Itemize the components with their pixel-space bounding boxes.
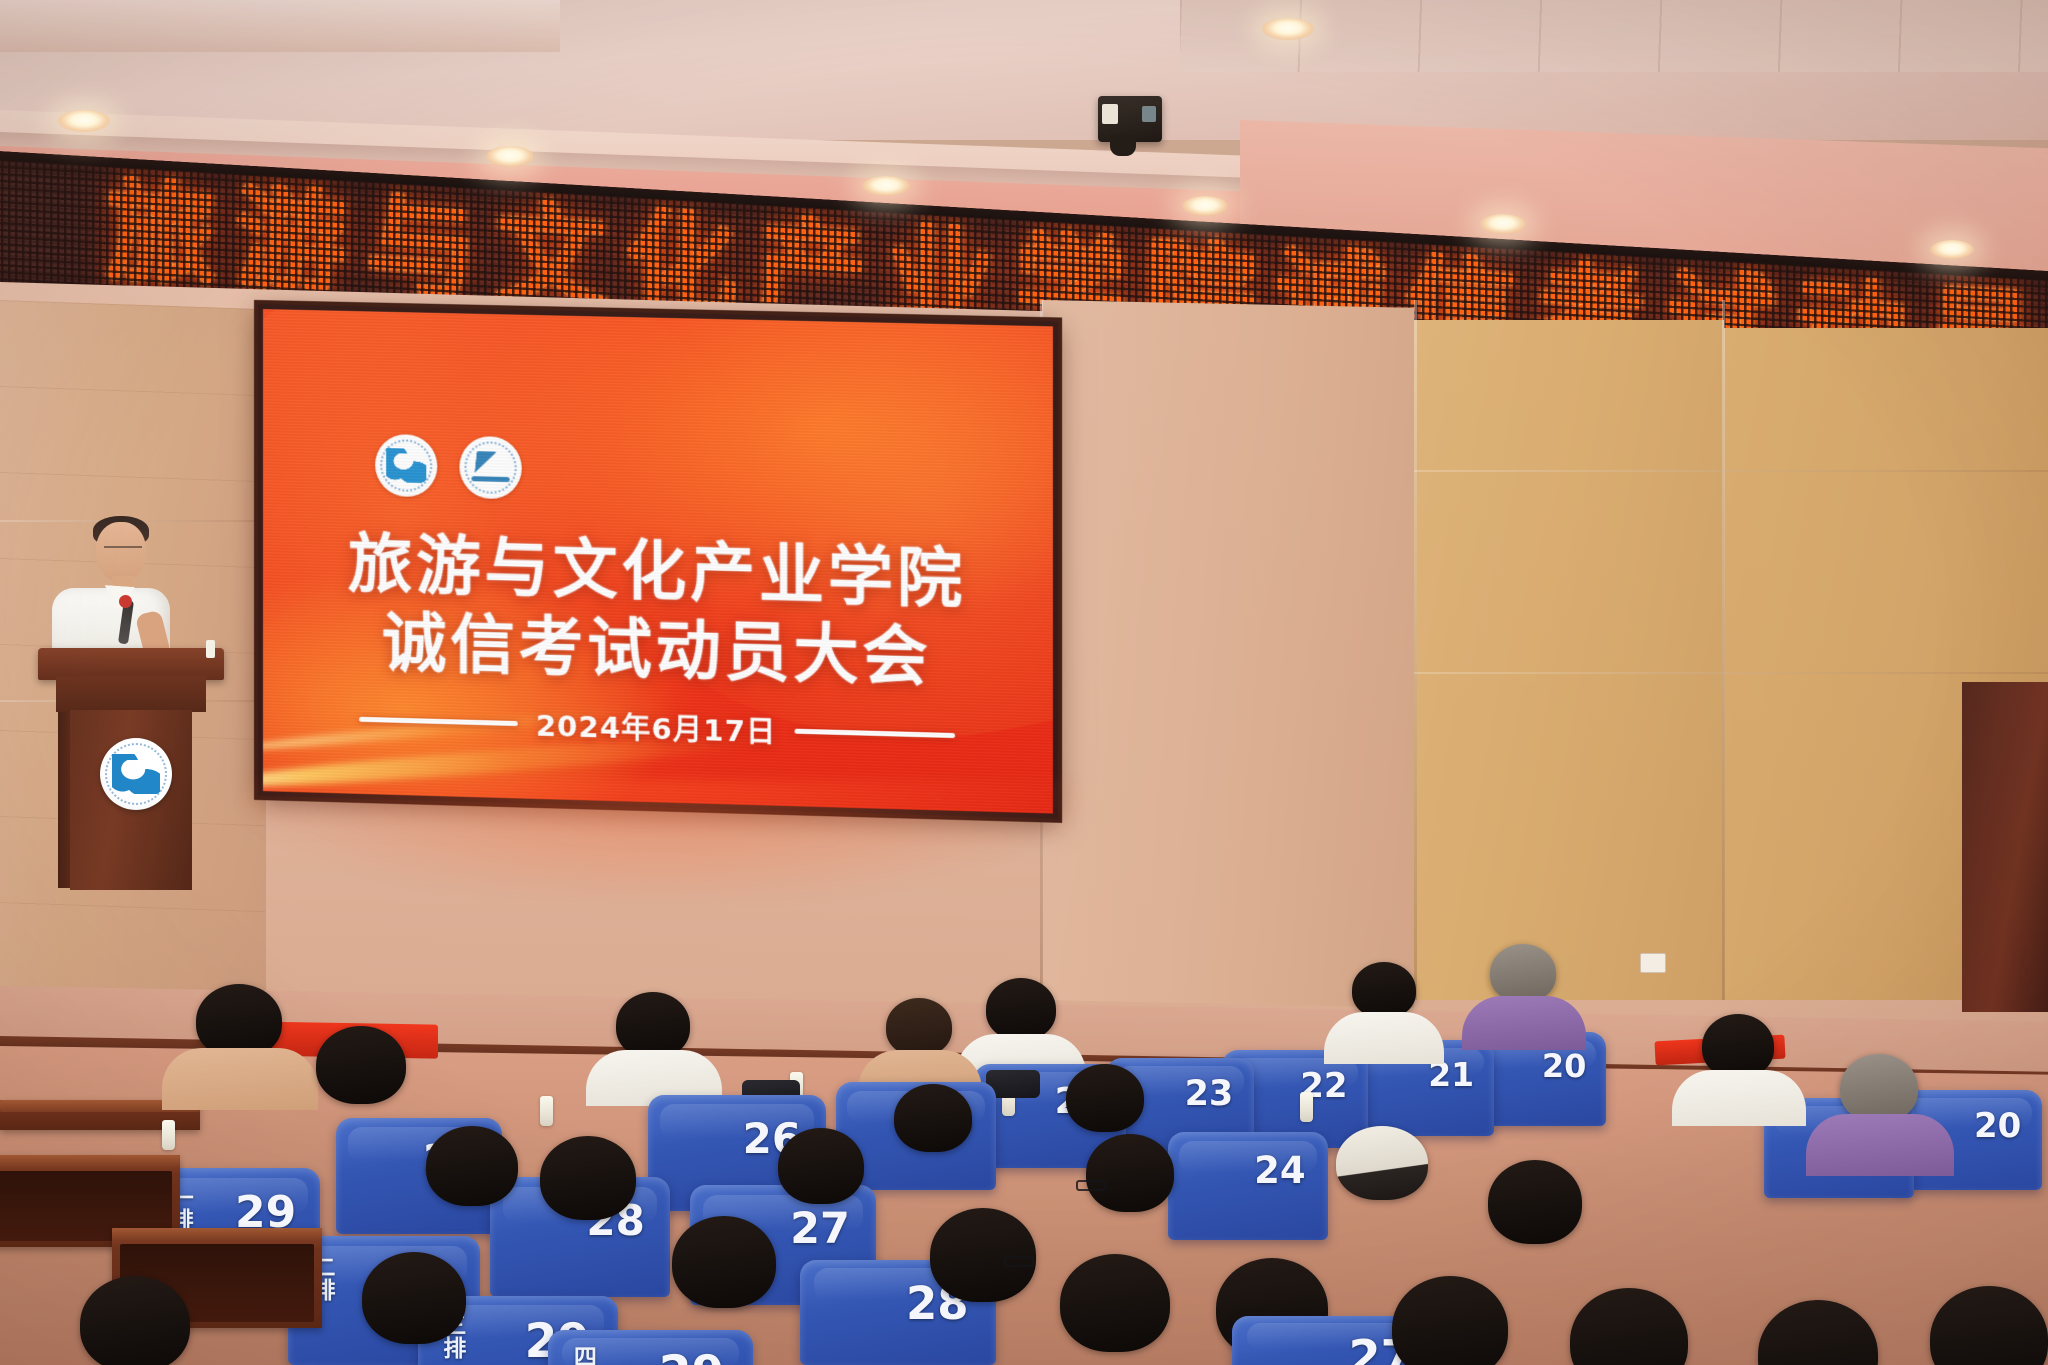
- wall-hseam: [1414, 672, 2048, 674]
- audience-head: [80, 1276, 190, 1365]
- audience-head: [986, 978, 1056, 1040]
- seat-number-label: 27: [790, 1204, 850, 1254]
- ceiling-downlight: [1930, 240, 1974, 259]
- right-of-screen-wall-panel: [1042, 300, 1414, 1008]
- ceiling-downlight: [1182, 196, 1228, 216]
- audience-head: [1488, 1160, 1582, 1244]
- audience-head: [1086, 1134, 1174, 1212]
- side-doorway: [1962, 682, 2048, 1012]
- seat-number-label: 29: [659, 1346, 724, 1365]
- audience-head: [426, 1126, 518, 1206]
- wood-panel-a: [1414, 320, 1724, 1000]
- audience-head: [1570, 1288, 1688, 1365]
- ceiling-downlight: [1262, 18, 1314, 40]
- water-bottle: [540, 1096, 553, 1126]
- eyeglasses: [1004, 1256, 1034, 1267]
- audience-head: [778, 1128, 864, 1204]
- college-emblem-blue-swoosh-icon: [375, 434, 437, 498]
- auditorium-photo: 旅游与文化产业学院诚信考试动员大: [0, 0, 2048, 1365]
- seat-number-label: 20: [1542, 1047, 1587, 1085]
- wall-seam: [1414, 300, 1417, 1000]
- audience-head: [616, 992, 690, 1058]
- podium-water-bottle: [206, 640, 215, 658]
- ceiling-downlight: [486, 146, 534, 167]
- audience-head: [1840, 1054, 1918, 1122]
- stage-led-screen: 旅游与文化产业学院 诚信考试动员大会 2024年6月17日: [258, 304, 1058, 819]
- audience-head: [886, 998, 952, 1056]
- ceiling-panel-grid: [1180, 0, 2048, 72]
- ceiling-projector-icon: [1098, 96, 1162, 142]
- audience-head: [1066, 1064, 1144, 1132]
- audience-head: [1930, 1286, 2048, 1365]
- seat-row-label: 四排: [571, 1345, 593, 1365]
- audience-head: [316, 1026, 406, 1104]
- audience-head: [1392, 1276, 1508, 1365]
- audience-head-with-cap: [1336, 1126, 1428, 1200]
- audience-head: [1490, 944, 1556, 1002]
- date-rule-right: [795, 728, 956, 737]
- water-bottle: [162, 1120, 175, 1150]
- audience-seat[interactable]: 24: [1168, 1132, 1328, 1240]
- screen-logo-group: [375, 434, 522, 500]
- seat-number-label: 20: [1974, 1106, 2021, 1146]
- audience-head: [930, 1208, 1036, 1302]
- screen-surface: 旅游与文化产业学院 诚信考试动员大会 2024年6月17日: [263, 309, 1053, 813]
- water-bottle: [1300, 1092, 1313, 1122]
- audience-head: [1702, 1014, 1774, 1078]
- ceiling-cove: [0, 0, 560, 52]
- audience-head: [362, 1252, 466, 1344]
- ceiling-downlight: [58, 110, 110, 132]
- audience-shoulders: [162, 1048, 318, 1110]
- audience-shoulders: [1462, 996, 1586, 1050]
- date-rule-left: [359, 716, 518, 725]
- audience-head: [540, 1136, 636, 1220]
- wall-hseam: [1414, 470, 2048, 472]
- seat-number-label: 24: [1254, 1149, 1306, 1192]
- college-emblem-sail-icon: [459, 436, 521, 500]
- audience-head: [672, 1216, 776, 1308]
- audience-shoulders: [1806, 1114, 1954, 1176]
- ceiling-downlight: [862, 176, 910, 196]
- wall-power-outlet: [1640, 953, 1666, 973]
- audience-area: 一排29二排29三排29四排29282826272825242324222120…: [0, 1040, 2048, 1365]
- speaker-glasses: [104, 546, 142, 555]
- microphone-head-icon: [119, 595, 132, 608]
- audience-head: [1352, 962, 1416, 1018]
- audience-seat[interactable]: 四排29: [548, 1330, 753, 1365]
- audience-shoulders: [1672, 1070, 1806, 1126]
- audience-head: [1060, 1254, 1170, 1352]
- wall-seam: [1722, 300, 1725, 1000]
- university-emblem-icon: [100, 738, 172, 810]
- audience-head: [894, 1084, 972, 1152]
- screen-date: 2024年6月17日: [536, 703, 777, 752]
- audience-shoulders: [1324, 1012, 1444, 1064]
- audience-head: [196, 984, 282, 1058]
- seat-number-label: 23: [1185, 1074, 1234, 1114]
- screen-title: 旅游与文化产业学院 诚信考试动员大会: [263, 523, 1053, 700]
- ceiling-downlight: [1480, 214, 1526, 234]
- eyeglasses: [1076, 1180, 1106, 1191]
- screen-floor-glow: [240, 780, 1080, 900]
- audience-head: [1758, 1300, 1878, 1365]
- podium-skirt: [56, 676, 206, 712]
